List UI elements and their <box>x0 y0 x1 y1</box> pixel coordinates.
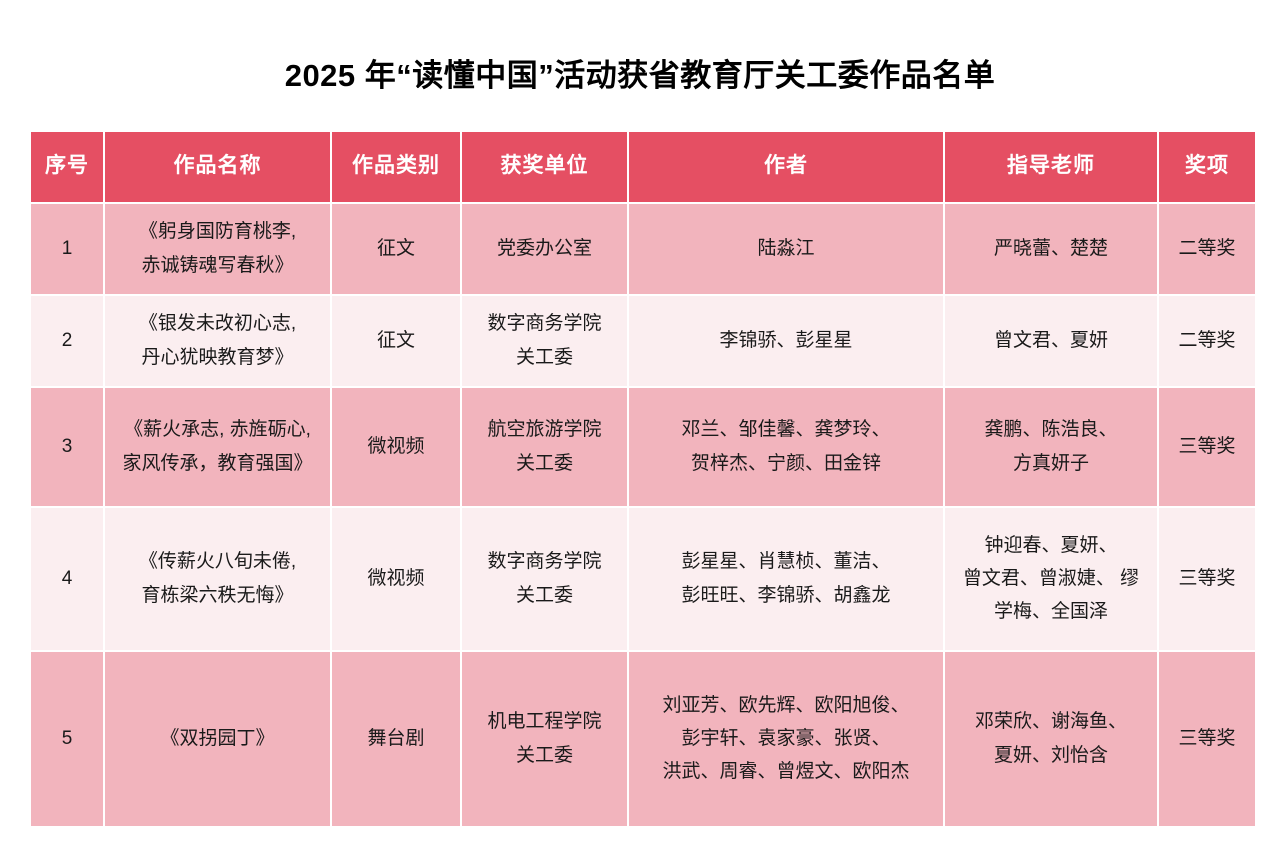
cell-line: 彭星星、肖慧桢、董洁、 <box>635 545 937 578</box>
cell-teachers: 钟迎春、夏妍、 曾文君、曾淑婕、 缪 学梅、全国泽 <box>945 508 1157 650</box>
cell-line: 邓兰、邹佳馨、龚梦玲、 <box>635 413 937 446</box>
page-title: 2025 年“读懂中国”活动获省教育厅关工委作品名单 <box>0 21 1280 96</box>
cell-category: 舞台剧 <box>332 652 460 826</box>
cell-award: 二等奖 <box>1159 296 1255 386</box>
table-header-row: 序号 作品名称 作品类别 获奖单位 作者 指导老师 奖项 <box>31 132 1255 202</box>
table-row: 4 《传薪火八旬未倦, 育栋梁六秩无悔》 微视频 数字商务学院 关工委 彭星星、… <box>31 508 1255 650</box>
cell-line: 关工委 <box>468 447 621 480</box>
cell-line: 《银发未改初心志, <box>111 307 324 340</box>
cell-index: 2 <box>31 296 103 386</box>
cell-line: 钟迎春、夏妍、 <box>951 529 1151 562</box>
column-header-award: 奖项 <box>1159 132 1255 202</box>
cell-category: 征文 <box>332 296 460 386</box>
award-table-container: 序号 作品名称 作品类别 获奖单位 作者 指导老师 奖项 1 《躬身国防育桃李,… <box>29 130 1251 828</box>
cell-unit: 数字商务学院 关工委 <box>462 508 627 650</box>
cell-line: 《传薪火八旬未倦, <box>111 545 324 578</box>
cell-index: 5 <box>31 652 103 826</box>
column-header-index: 序号 <box>31 132 103 202</box>
column-header-teachers: 指导老师 <box>945 132 1157 202</box>
table-row: 3 《薪火承志, 赤旌砺心, 家风传承，教育强国》 微视频 航空旅游学院 关工委… <box>31 388 1255 506</box>
table-row: 1 《躬身国防育桃李, 赤诚铸魂写春秋》 征文 党委办公室 陆淼江 严晓蕾、楚楚 <box>31 204 1255 294</box>
cell-line: 洪武、周睿、曾煜文、欧阳杰 <box>635 755 937 788</box>
cell-line: 数字商务学院 <box>468 545 621 578</box>
cell-line: 彭宇轩、袁家豪、张贤、 <box>635 722 937 755</box>
cell-teachers: 曾文君、夏妍 <box>945 296 1157 386</box>
column-header-unit: 获奖单位 <box>462 132 627 202</box>
cell-unit: 机电工程学院 关工委 <box>462 652 627 826</box>
table-row: 5 《双拐园丁》 舞台剧 机电工程学院 关工委 刘亚芳、欧先辉、欧阳旭俊、 彭宇… <box>31 652 1255 826</box>
cell-authors: 陆淼江 <box>629 204 943 294</box>
cell-line: 党委办公室 <box>468 232 621 265</box>
cell-line: 学梅、全国泽 <box>951 595 1151 628</box>
cell-line: 《薪火承志, 赤旌砺心, <box>111 413 324 446</box>
cell-title: 《双拐园丁》 <box>105 652 330 826</box>
cell-line: 邓荣欣、谢海鱼、 <box>951 705 1151 738</box>
cell-line: 关工委 <box>468 579 621 612</box>
cell-title: 《躬身国防育桃李, 赤诚铸魂写春秋》 <box>105 204 330 294</box>
column-header-authors: 作者 <box>629 132 943 202</box>
cell-index: 1 <box>31 204 103 294</box>
cell-category: 微视频 <box>332 508 460 650</box>
cell-line: 李锦骄、彭星星 <box>635 324 937 357</box>
cell-category: 征文 <box>332 204 460 294</box>
cell-index: 3 <box>31 388 103 506</box>
cell-line: 严晓蕾、楚楚 <box>951 232 1151 265</box>
column-header-category: 作品类别 <box>332 132 460 202</box>
cell-authors: 邓兰、邹佳馨、龚梦玲、 贺梓杰、宁颜、田金锌 <box>629 388 943 506</box>
cell-line: 刘亚芳、欧先辉、欧阳旭俊、 <box>635 689 937 722</box>
cell-line: 夏妍、刘怡含 <box>951 739 1151 772</box>
cell-line: 关工委 <box>468 739 621 772</box>
cell-authors: 李锦骄、彭星星 <box>629 296 943 386</box>
column-header-title: 作品名称 <box>105 132 330 202</box>
cell-line: 方真妍子 <box>951 447 1151 480</box>
cell-award: 二等奖 <box>1159 204 1255 294</box>
table-header: 序号 作品名称 作品类别 获奖单位 作者 指导老师 奖项 <box>31 132 1255 202</box>
cell-line: 龚鹏、陈浩良、 <box>951 413 1151 446</box>
cell-line: 陆淼江 <box>635 232 937 265</box>
award-table: 序号 作品名称 作品类别 获奖单位 作者 指导老师 奖项 1 《躬身国防育桃李,… <box>29 130 1257 828</box>
cell-line: 赤诚铸魂写春秋》 <box>111 249 324 282</box>
cell-line: 《躬身国防育桃李, <box>111 215 324 248</box>
cell-index: 4 <box>31 508 103 650</box>
table-body: 1 《躬身国防育桃李, 赤诚铸魂写春秋》 征文 党委办公室 陆淼江 严晓蕾、楚楚 <box>31 204 1255 826</box>
cell-line: 机电工程学院 <box>468 705 621 738</box>
cell-line: 曾文君、夏妍 <box>951 324 1151 357</box>
cell-line: 育栋梁六秩无悔》 <box>111 579 324 612</box>
cell-unit: 党委办公室 <box>462 204 627 294</box>
cell-category: 微视频 <box>332 388 460 506</box>
cell-title: 《传薪火八旬未倦, 育栋梁六秩无悔》 <box>105 508 330 650</box>
cell-title: 《薪火承志, 赤旌砺心, 家风传承，教育强国》 <box>105 388 330 506</box>
cell-unit: 航空旅游学院 关工委 <box>462 388 627 506</box>
cell-award: 三等奖 <box>1159 652 1255 826</box>
cell-line: 关工委 <box>468 341 621 374</box>
cell-line: 贺梓杰、宁颜、田金锌 <box>635 447 937 480</box>
cell-line: 《双拐园丁》 <box>111 722 324 755</box>
document-page: 2025 年“读懂中国”活动获省教育厅关工委作品名单 序号 作品名称 作品类别 … <box>0 21 1280 845</box>
cell-award: 三等奖 <box>1159 388 1255 506</box>
cell-award: 三等奖 <box>1159 508 1255 650</box>
cell-line: 丹心犹映教育梦》 <box>111 341 324 374</box>
cell-teachers: 邓荣欣、谢海鱼、 夏妍、刘怡含 <box>945 652 1157 826</box>
cell-line: 曾文君、曾淑婕、 缪 <box>951 562 1151 595</box>
cell-teachers: 龚鹏、陈浩良、 方真妍子 <box>945 388 1157 506</box>
cell-unit: 数字商务学院 关工委 <box>462 296 627 386</box>
cell-authors: 刘亚芳、欧先辉、欧阳旭俊、 彭宇轩、袁家豪、张贤、 洪武、周睿、曾煜文、欧阳杰 <box>629 652 943 826</box>
cell-line: 航空旅游学院 <box>468 413 621 446</box>
cell-line: 数字商务学院 <box>468 307 621 340</box>
cell-teachers: 严晓蕾、楚楚 <box>945 204 1157 294</box>
cell-line: 家风传承，教育强国》 <box>111 447 324 480</box>
table-row: 2 《银发未改初心志, 丹心犹映教育梦》 征文 数字商务学院 关工委 李锦骄、彭… <box>31 296 1255 386</box>
cell-authors: 彭星星、肖慧桢、董洁、 彭旺旺、李锦骄、胡鑫龙 <box>629 508 943 650</box>
cell-line: 彭旺旺、李锦骄、胡鑫龙 <box>635 579 937 612</box>
cell-title: 《银发未改初心志, 丹心犹映教育梦》 <box>105 296 330 386</box>
